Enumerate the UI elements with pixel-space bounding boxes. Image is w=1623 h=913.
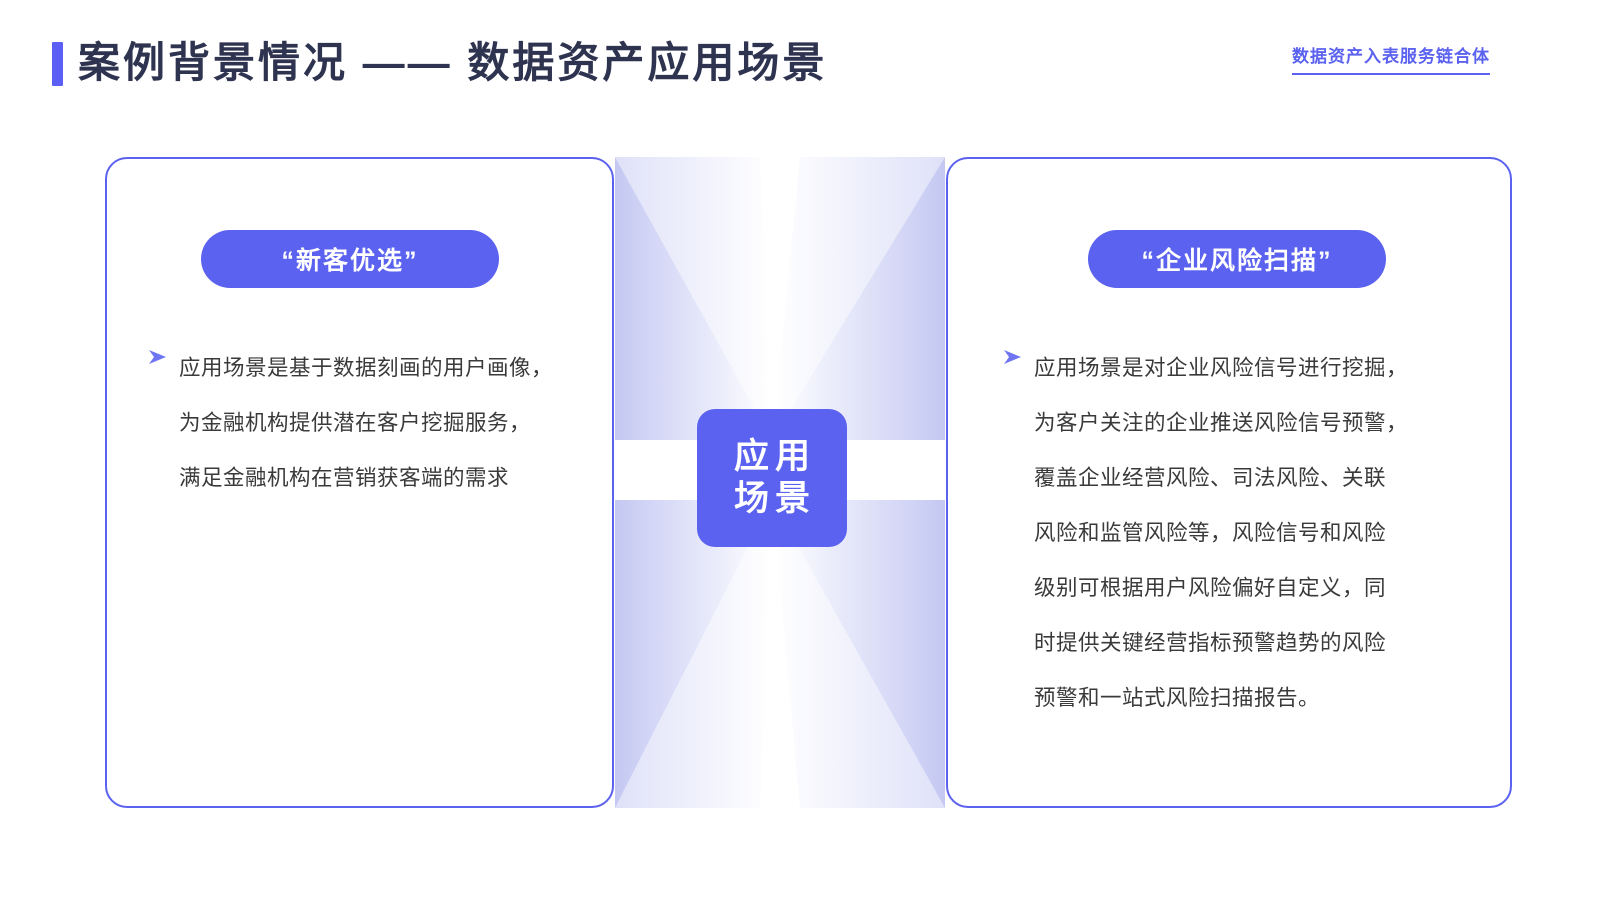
brand-tag: 数据资产入表服务链合体 [1292,44,1490,75]
scenario-body-left-text: 应用场景是基于数据刻画的用户画像， 为金融机构提供潜在客户挖掘服务， 满足金融机… [179,341,575,506]
slide-header: 案例背景情况 —— 数据资产应用场景 数据资产入表服务链合体 [0,0,1623,120]
title-accent-bar [52,42,63,86]
page-title: 案例背景情况 —— 数据资产应用场景 [78,33,827,93]
scenario-body-right-text: 应用场景是对企业风险信号进行挖掘， 为客户关注的企业推送风险信号预警， 覆盖企业… [1034,341,1474,726]
scenario-card-new-customer-selection: “新客优选” 应用场景是基于数据刻画的用户画像， 为金融机构提供潜在客户挖掘服务… [105,157,614,808]
brand-tag-label: 数据资产入表服务链合体 [1292,44,1490,70]
scenario-badge-left-label: “新客优选” [281,241,418,277]
scenario-badge-left: “新客优选” [201,230,499,288]
arrow-bullet-icon [1004,341,1034,364]
scenario-card-enterprise-risk-scan: “企业风险扫描” 应用场景是对企业风险信号进行挖掘， 为客户关注的企业推送风险信… [946,157,1512,808]
center-tile-line-1: 应用 [728,436,816,478]
arrow-bullet-icon [149,341,179,364]
scenario-body-left: 应用场景是基于数据刻画的用户画像， 为金融机构提供潜在客户挖掘服务， 满足金融机… [149,341,589,506]
brand-tag-underline [1292,73,1490,75]
scenario-badge-right: “企业风险扫描” [1088,230,1386,288]
center-scenario-tile: 应用 场景 [697,409,847,547]
center-tile-line-2: 场景 [728,478,816,520]
scenario-badge-right-label: “企业风险扫描” [1141,241,1332,277]
scenario-body-right: 应用场景是对企业风险信号进行挖掘， 为客户关注的企业推送风险信号预警， 覆盖企业… [1004,341,1504,726]
